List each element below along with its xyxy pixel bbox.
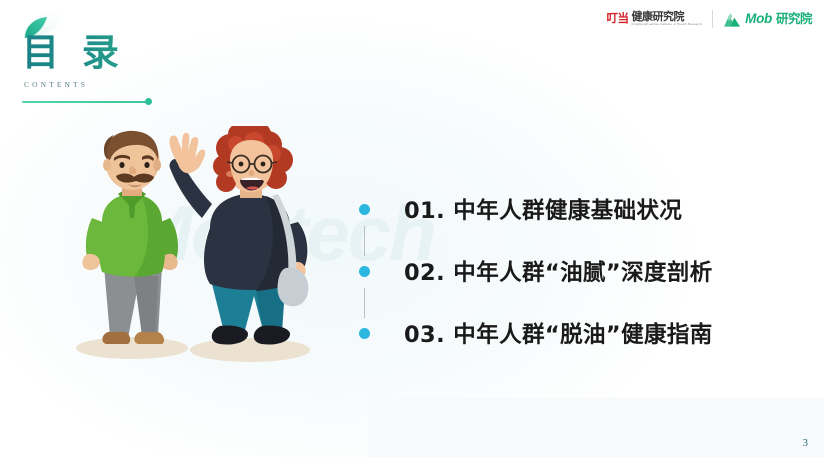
middle-aged-couple-illustration xyxy=(58,126,348,366)
dingdang-logo: 叮当 健康研究院 DingDangKuaiYao Institute of He… xyxy=(607,11,703,26)
mob-logo-word: Mob xyxy=(745,12,772,26)
page-title: 目 录 xyxy=(18,34,198,71)
toc-item-03[interactable]: 03. 中年人群“脱油”健康指南 xyxy=(358,302,788,364)
title-block: 目 录 CONTENTS xyxy=(18,8,198,106)
page-number: 3 xyxy=(803,437,809,449)
toc-item-01[interactable]: 01. 中年人群健康基础状况 xyxy=(358,178,788,240)
dingdang-logo-cn: 健康研究院 xyxy=(632,11,703,22)
table-of-contents: 01. 中年人群健康基础状况 02. 中年人群“油腻”深度剖析 03. 中年人群… xyxy=(358,178,788,364)
title-underline xyxy=(22,97,152,106)
mob-logo-cn: 研究院 xyxy=(776,13,812,26)
background-wash-right xyxy=(638,398,824,457)
header-logo-bar: 叮当 健康研究院 DingDangKuaiYao Institute of He… xyxy=(607,6,812,32)
mob-logo: Mob 研究院 xyxy=(723,11,812,28)
dingdang-logo-en: DingDangKuaiYao Institute of Health Rese… xyxy=(632,23,703,26)
mob-mountain-icon xyxy=(723,11,741,28)
title-underline-dot xyxy=(145,98,152,105)
dingdang-logo-text: 健康研究院 DingDangKuaiYao Institute of Healt… xyxy=(632,11,703,26)
toc-item-label: 03. 中年人群“脱油”健康指南 xyxy=(404,317,713,349)
toc-item-label: 02. 中年人群“油腻”深度剖析 xyxy=(404,255,713,287)
toc-item-02[interactable]: 02. 中年人群“油腻”深度剖析 xyxy=(358,240,788,302)
logo-divider xyxy=(712,10,713,28)
page-subtitle: CONTENTS xyxy=(18,80,198,89)
woman-figure xyxy=(169,126,308,345)
dingdang-mark: 叮当 xyxy=(607,13,629,25)
toc-item-label: 01. 中年人群健康基础状况 xyxy=(404,193,682,225)
background-wash-left xyxy=(368,398,638,457)
slide-canvas: 叮当 健康研究院 DingDangKuaiYao Institute of He… xyxy=(0,0,824,457)
man-figure xyxy=(82,131,178,344)
bullet-icon xyxy=(359,204,370,215)
title-underline-bar xyxy=(22,101,146,103)
bullet-icon xyxy=(359,328,370,339)
bullet-icon xyxy=(359,266,370,277)
